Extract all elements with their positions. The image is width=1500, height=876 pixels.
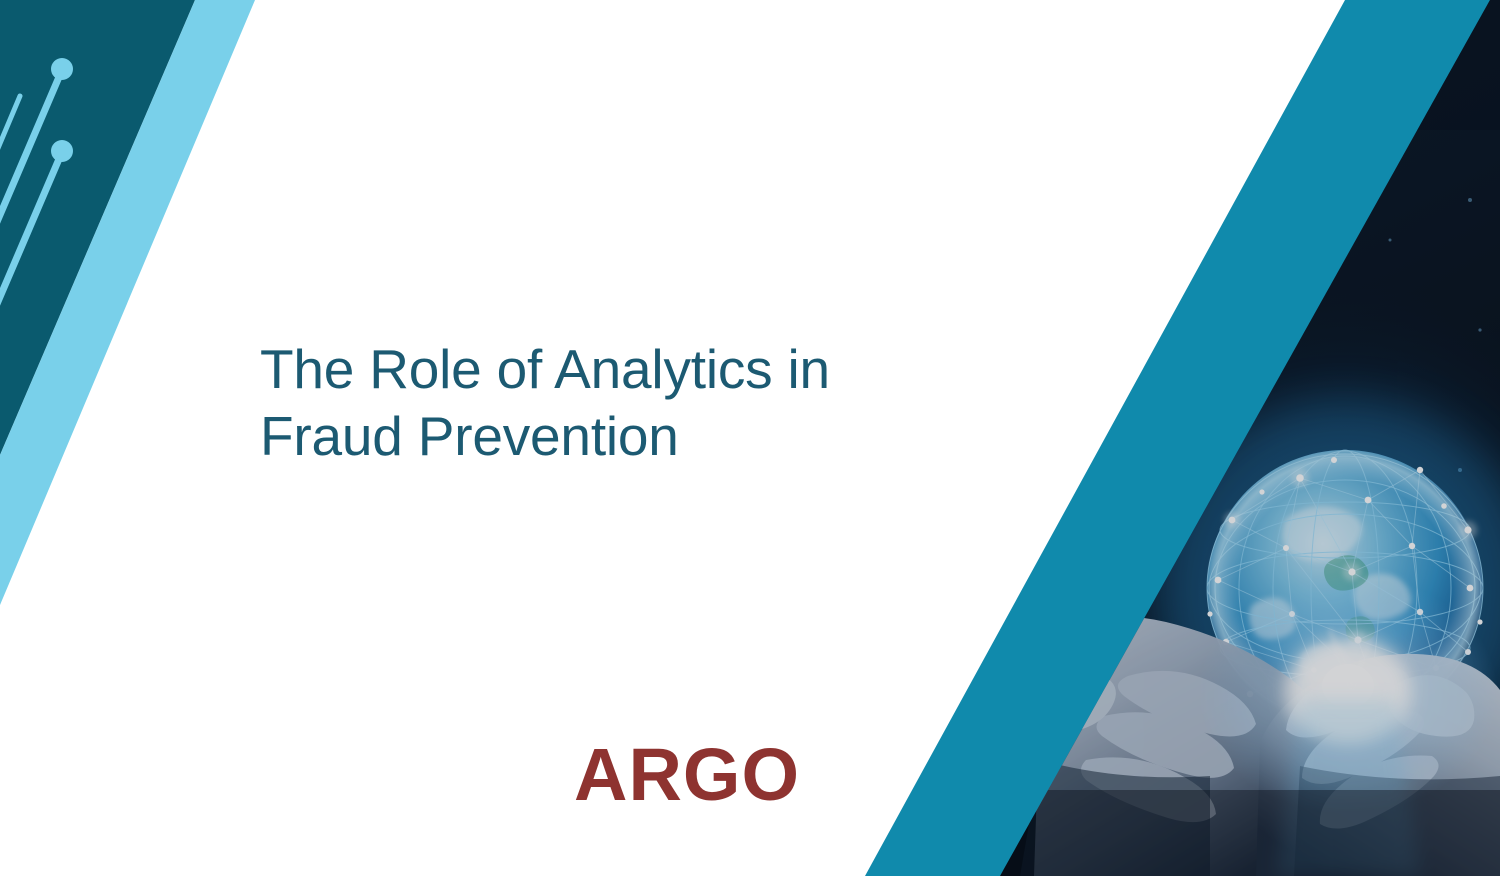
- circuit-node-icon: [51, 58, 73, 80]
- slide-canvas: The Role of Analytics in Fraud Preventio…: [0, 0, 1500, 876]
- title-line-1: The Role of Analytics in: [260, 336, 960, 403]
- argo-logo: ARGO: [574, 738, 800, 812]
- argo-logo-text: ARGO: [574, 738, 800, 812]
- title-line-2: Fraud Prevention: [260, 403, 960, 470]
- circuit-node-icon: [51, 140, 73, 162]
- page-title: The Role of Analytics in Fraud Preventio…: [260, 336, 960, 470]
